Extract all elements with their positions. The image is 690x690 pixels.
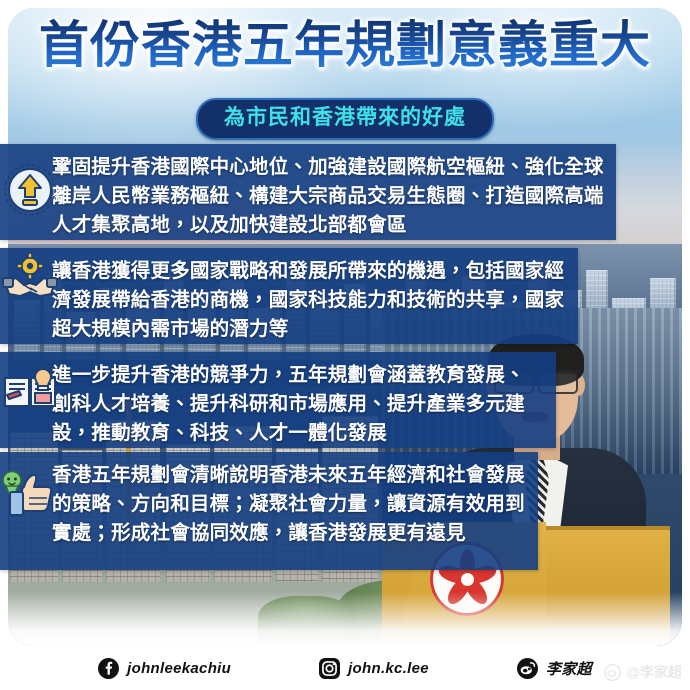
weibo-watermark: @李家超: [604, 662, 682, 682]
weibo-watermark-text: @李家超: [626, 662, 682, 682]
weibo-handle: 李家超: [546, 658, 592, 679]
subtitle-pill: 為市民和香港帶來的好處: [196, 98, 494, 140]
content-block-2: 讓香港獲得更多國家戰略和發展所帶來的機遇，包括國家經濟發展帶給香港的商機，國家科…: [0, 248, 578, 344]
bottom-fade: [8, 592, 682, 646]
social-footer: johnleekachiu john.kc.lee: [0, 646, 690, 690]
weibo-watermark-icon: [604, 664, 621, 681]
facebook-icon: [98, 658, 119, 679]
content-block-3: 進一步提升香港的競爭力，五年規劃會涵蓋教育發展、創科人才培養、提升科研和市場應用…: [0, 352, 556, 448]
instagram-icon: [319, 658, 340, 679]
thumbs-up-icon: [2, 466, 58, 522]
facebook-account[interactable]: johnleekachiu: [98, 658, 231, 679]
weibo-account[interactable]: 李家超: [517, 658, 592, 679]
book-lightbulb-icon: [2, 360, 58, 416]
content-block-4: 香港五年規劃會清晰說明香港未來五年經濟和社會發展的策略、方向和目標；凝聚社會力量…: [0, 452, 538, 570]
subtitle-container: 為市民和香港帶來的好處: [0, 98, 690, 140]
weibo-icon: [517, 658, 538, 679]
infographic-poster: 首份香港五年規劃意義重大 為市民和香港帶來的好處 鞏固提升香港國際中心地位、加強…: [0, 0, 690, 690]
content-block-1: 鞏固提升香港國際中心地位、加強建設國際航空樞紐、強化全球離岸人民幣業務樞紐、構建…: [0, 144, 616, 240]
content-block-2-text: 讓香港獲得更多國家戰略和發展所帶來的機遇，包括國家經濟發展帶給香港的商機，國家科…: [52, 248, 578, 353]
content-block-1-text: 鞏固提升香港國際中心地位、加強建設國際航空樞紐、強化全球離岸人民幣業務樞紐、構建…: [52, 144, 616, 249]
handshake-gear-icon: [2, 252, 58, 308]
up-arrow-circle-icon: [2, 162, 58, 218]
instagram-handle: john.kc.lee: [348, 660, 429, 677]
content-block-3-text: 進一步提升香港的競爭力，五年規劃會涵蓋教育發展、創科人才培養、提升科研和市場應用…: [52, 352, 556, 457]
facebook-handle: johnleekachiu: [127, 660, 231, 677]
page-title: 首份香港五年規劃意義重大: [0, 14, 690, 76]
content-block-4-text: 香港五年規劃會清晰說明香港未來五年經濟和社會發展的策略、方向和目標；凝聚社會力量…: [52, 452, 538, 557]
instagram-account[interactable]: john.kc.lee: [319, 658, 429, 679]
